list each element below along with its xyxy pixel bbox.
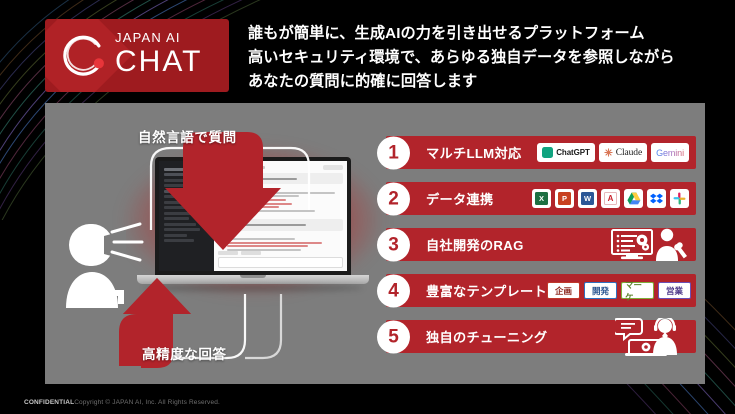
monitor-gears-engineer-icon [611, 228, 689, 262]
feature-row-rag[interactable]: 3 自社開発のRAG [386, 228, 696, 261]
feature-label: データ連携 [426, 189, 493, 208]
feature-row-data-integration[interactable]: 2 データ連携 X P W A [386, 182, 696, 215]
llm-chip-claude: Claude [599, 143, 647, 162]
footer-copyright: Copyright © JAPAN AI, Inc. All Rights Re… [74, 399, 220, 406]
app-icon-group: X P W A [532, 189, 696, 208]
logo-main-text: CHAT [115, 47, 202, 77]
chatgpt-icon [542, 147, 553, 158]
feature-number: 3 [377, 228, 410, 261]
claude-icon [604, 148, 613, 157]
llm-chip-gemini: Gemini [651, 143, 689, 162]
word-glyph: W [581, 192, 594, 205]
callout-label-answer: 高精度な回答 [142, 343, 227, 363]
excel-icon: X [532, 189, 551, 208]
excel-glyph: X [535, 192, 548, 205]
template-tag-marketing[interactable]: マーケ [621, 282, 654, 299]
slack-icon [670, 189, 689, 208]
feature-number: 5 [377, 320, 410, 353]
support-illustration-group [615, 318, 696, 356]
logo-top-text: JAPAN AI [115, 31, 202, 44]
powerpoint-icon: P [555, 189, 574, 208]
feature-row-multi-llm[interactable]: 1 マルチLLM対応 ChatGPT Cl [386, 136, 696, 169]
word-icon: W [578, 189, 597, 208]
llm-chip-group: ChatGPT Claude Gemini [537, 143, 696, 162]
enso-circle-icon [63, 33, 109, 79]
footer-legal: CONFIDENTIALCopyright © JAPAN AI, Inc. A… [24, 399, 220, 406]
feature-label: 豊富なテンプレート [426, 281, 547, 300]
speaking-person-icon [62, 218, 146, 308]
template-tag-planning[interactable]: 企画 [547, 282, 580, 299]
brand-logo-card: JAPAN AI CHAT [45, 19, 229, 92]
feature-row-templates[interactable]: 4 豊富なテンプレート 企画 開発 マーケ 営業 [386, 274, 696, 307]
headset-agent-icon [615, 318, 689, 356]
rag-illustration-group [611, 228, 696, 262]
template-tag-development[interactable]: 開発 [584, 282, 617, 299]
slide-canvas: JAPAN AI CHAT 誰もが簡単に、生成AIの力を引き出せるプラットフォー… [0, 0, 735, 414]
template-tag-sales[interactable]: 営業 [658, 282, 691, 299]
headline-text: 誰もが簡単に、生成AIの力を引き出せるプラットフォーム 高いセキュリティ環境で、… [248, 22, 718, 94]
llm-chip-chatgpt: ChatGPT [537, 143, 595, 162]
arrow-down-question [165, 132, 281, 250]
dropbox-icon [647, 189, 666, 208]
google-drive-icon [624, 189, 643, 208]
pdf-glyph: A [604, 192, 617, 205]
llm-chip-label: Claude [616, 148, 642, 158]
feature-label: マルチLLM対応 [426, 143, 521, 162]
feature-row-tuning[interactable]: 5 独自のチューニング [386, 320, 696, 353]
logo-wordmark: JAPAN AI CHAT [115, 31, 202, 77]
llm-chip-label: ChatGPT [556, 148, 590, 157]
template-tag-group: 企画 開発 マーケ 営業 [547, 282, 698, 299]
feature-number: 4 [377, 274, 410, 307]
footer-confidential: CONFIDENTIAL [24, 399, 74, 406]
feature-number: 1 [377, 136, 410, 169]
feature-list: 1 マルチLLM対応 ChatGPT Cl [386, 136, 696, 366]
llm-chip-label: Gemini [656, 148, 684, 158]
pdf-icon: A [601, 189, 620, 208]
feature-label: 自社開発のRAG [426, 235, 524, 254]
powerpoint-glyph: P [558, 192, 571, 205]
feature-label: 独自のチューニング [426, 327, 547, 346]
feature-number: 2 [377, 182, 410, 215]
callout-label-question: 自然言語で質問 [138, 126, 237, 146]
